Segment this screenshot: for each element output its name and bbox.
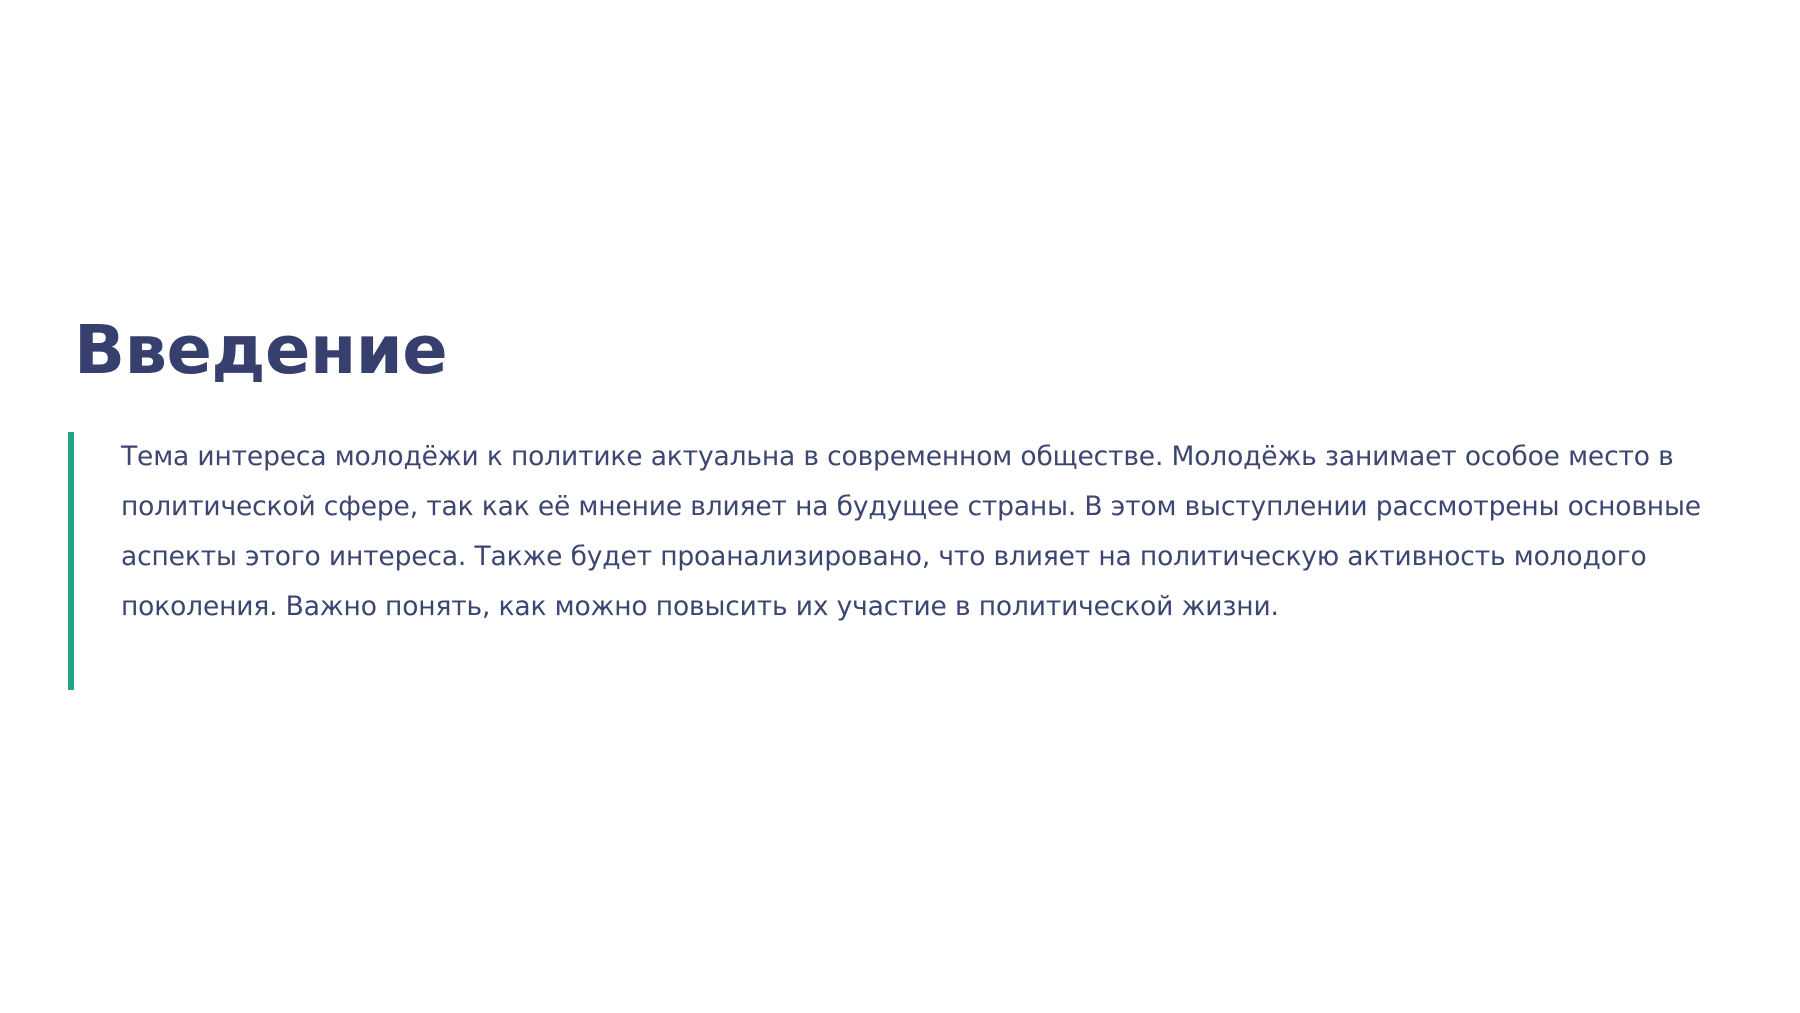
intro-text-block: Тема интереса молодёжи к политике актуал… [68, 432, 1708, 690]
intro-paragraph: Тема интереса молодёжи к политике актуал… [74, 432, 1708, 690]
page-title: Введение [74, 315, 447, 385]
presentation-slide: Введение Тема интереса молодёжи к полити… [0, 0, 1800, 1013]
